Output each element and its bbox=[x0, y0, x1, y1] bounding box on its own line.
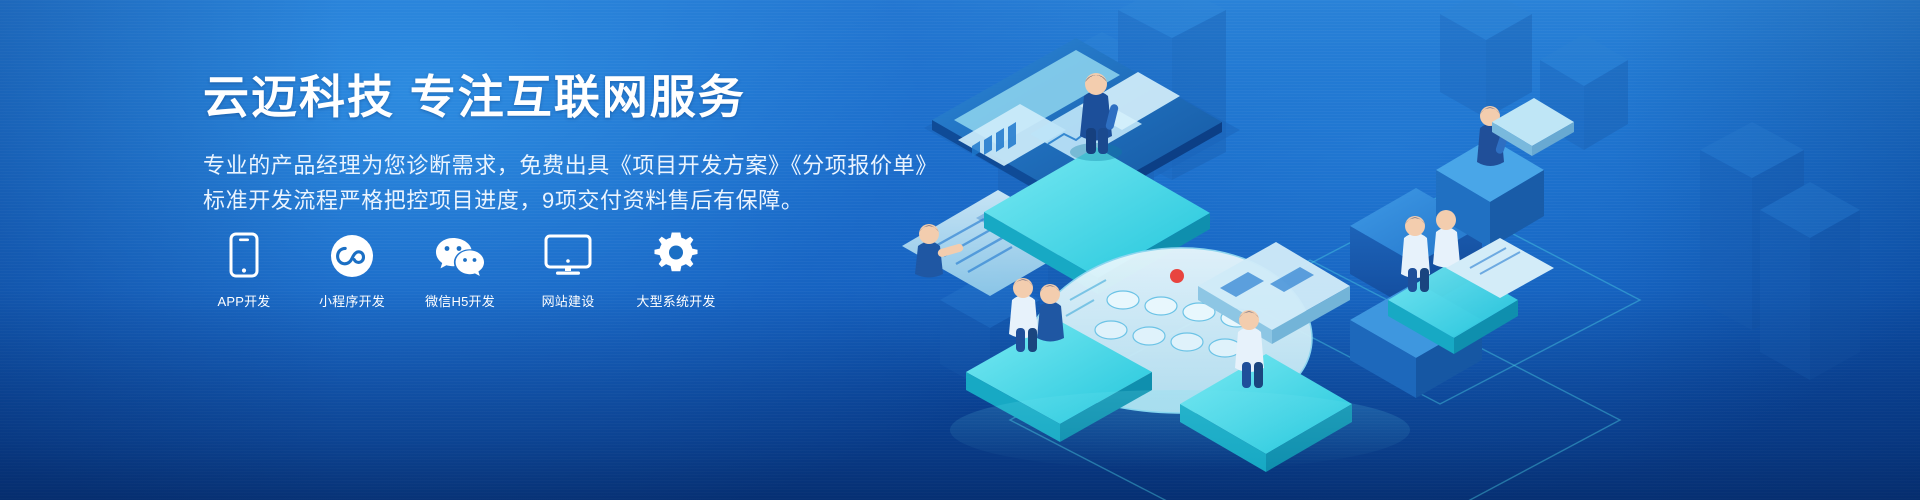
service-label: 微信H5开发 bbox=[425, 291, 495, 310]
wechat-icon bbox=[434, 232, 486, 278]
service-item-app[interactable]: APP开发 bbox=[203, 232, 285, 310]
mobile-phone-icon bbox=[229, 232, 259, 278]
subtitle-line-1: 专业的产品经理为您诊断需求，免费出具《项目开发方案》《分项报价单》 bbox=[203, 148, 923, 184]
subtitle-line-2: 标准开发流程严格把控项目进度，9项交付资料售后有保障。 bbox=[203, 183, 923, 219]
banner-subtitle: 专业的产品经理为您诊断需求，免费出具《项目开发方案》《分项报价单》 标准开发流程… bbox=[203, 148, 923, 219]
service-item-mini-program[interactable]: 小程序开发 bbox=[311, 232, 393, 310]
monitor-icon bbox=[544, 232, 592, 278]
service-item-website[interactable]: 网站建设 bbox=[527, 232, 609, 310]
service-label: 大型系统开发 bbox=[636, 291, 715, 310]
service-item-large-system[interactable]: 大型系统开发 bbox=[635, 232, 717, 310]
gear-icon bbox=[653, 232, 699, 278]
service-label: 网站建设 bbox=[542, 291, 595, 310]
page-title: 云迈科技 专注互联网服务 bbox=[203, 72, 923, 124]
service-label: APP开发 bbox=[217, 291, 270, 310]
service-label: 小程序开发 bbox=[319, 291, 385, 310]
mini-program-icon bbox=[330, 232, 374, 278]
banner-text-block: 云迈科技 专注互联网服务 专业的产品经理为您诊断需求，免费出具《项目开发方案》《… bbox=[203, 72, 923, 219]
service-list: APP开发 小程序开发 微信 bbox=[203, 232, 717, 310]
hero-banner: 云迈科技 专注互联网服务 专业的产品经理为您诊断需求，免费出具《项目开发方案》《… bbox=[0, 0, 1920, 500]
service-item-wechat-h5[interactable]: 微信H5开发 bbox=[419, 232, 501, 310]
isometric-tech-illustration bbox=[880, 0, 1920, 500]
